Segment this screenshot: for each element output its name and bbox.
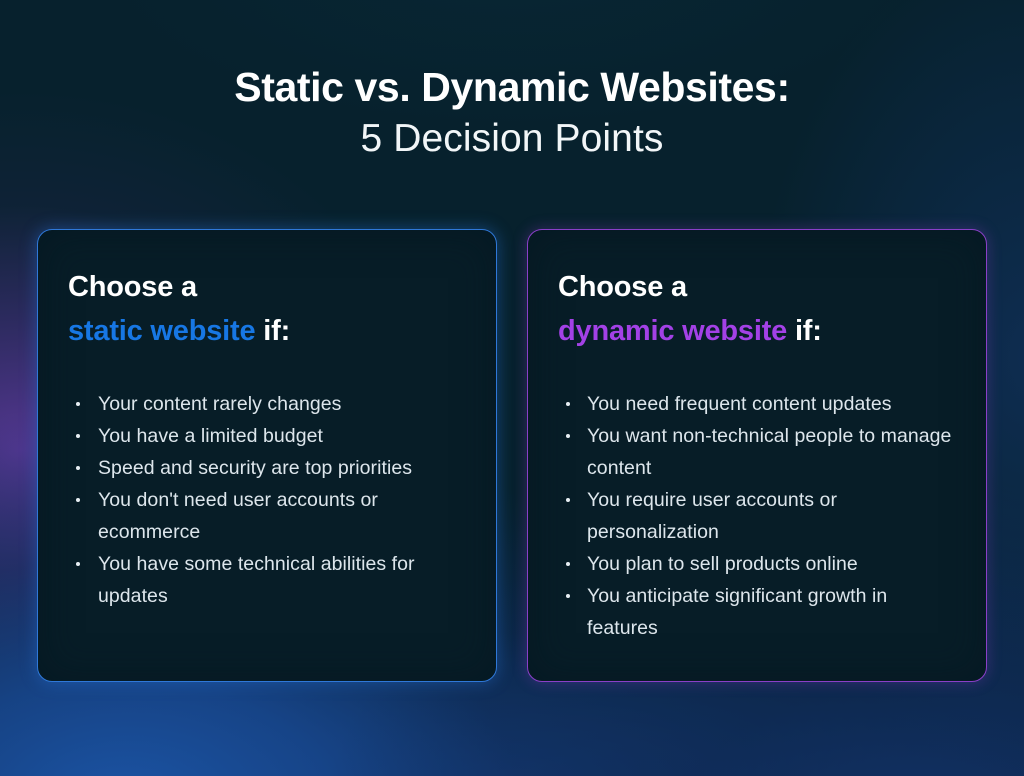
list-item: You have a limited budget bbox=[68, 421, 470, 453]
page-subtitle: 5 Decision Points bbox=[0, 114, 1024, 164]
card-static-heading-suffix: if: bbox=[263, 315, 290, 347]
card-static-heading-accent: static website bbox=[68, 315, 255, 347]
comparison-cards-row: Choose a static website if: Your content… bbox=[37, 229, 987, 682]
infographic-canvas: Static vs. Dynamic Websites: 5 Decision … bbox=[0, 0, 1024, 776]
card-dynamic-heading-accent: dynamic website bbox=[558, 315, 787, 347]
page-title: Static vs. Dynamic Websites: bbox=[0, 62, 1024, 112]
list-item: You require user accounts or personaliza… bbox=[558, 485, 960, 549]
list-item: You have some technical abilities for up… bbox=[68, 549, 470, 613]
list-item: You don't need user accounts or ecommerc… bbox=[68, 485, 470, 549]
card-static-bullet-list: Your content rarely changes You have a l… bbox=[68, 389, 470, 613]
card-dynamic-heading-line1: Choose a bbox=[558, 271, 687, 303]
card-static-heading-line1: Choose a bbox=[68, 271, 197, 303]
page-header: Static vs. Dynamic Websites: 5 Decision … bbox=[0, 62, 1024, 164]
card-dynamic-heading: Choose a dynamic website if: bbox=[558, 266, 960, 353]
list-item: You want non-technical people to manage … bbox=[558, 421, 960, 485]
list-item: You need frequent content updates bbox=[558, 389, 960, 421]
list-item: Your content rarely changes bbox=[68, 389, 470, 421]
card-static-heading: Choose a static website if: bbox=[68, 266, 470, 353]
card-static-website: Choose a static website if: Your content… bbox=[37, 229, 497, 682]
card-dynamic-bullet-list: You need frequent content updates You wa… bbox=[558, 389, 960, 645]
card-dynamic-website: Choose a dynamic website if: You need fr… bbox=[527, 229, 987, 682]
list-item: Speed and security are top priorities bbox=[68, 453, 470, 485]
card-dynamic-heading-suffix: if: bbox=[795, 315, 822, 347]
list-item: You anticipate significant growth in fea… bbox=[558, 581, 960, 645]
list-item: You plan to sell products online bbox=[558, 549, 960, 581]
